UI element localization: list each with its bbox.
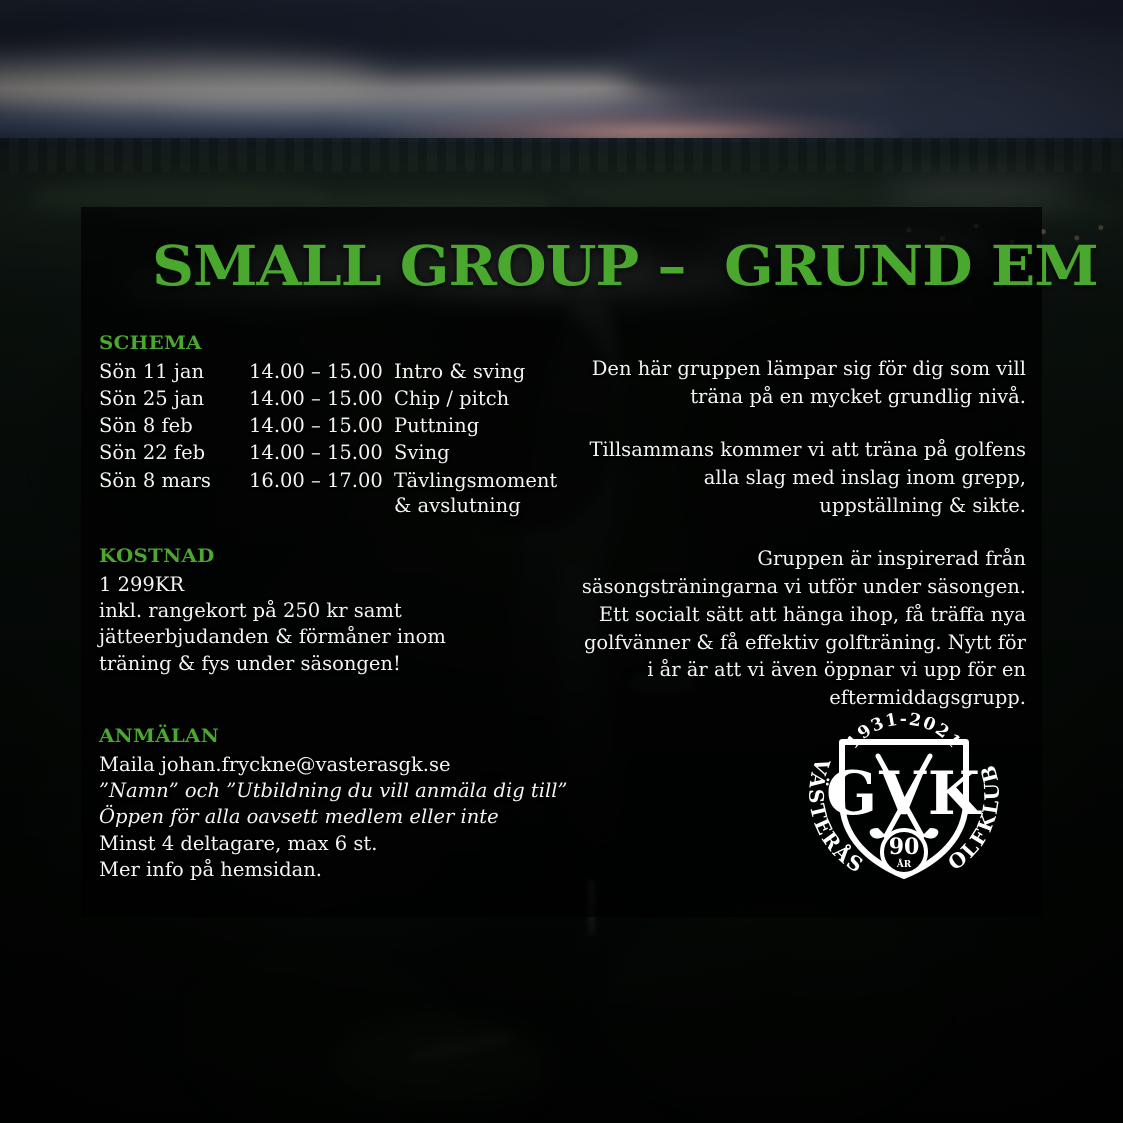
mist-patch [880, 180, 1080, 202]
registration-section: ANMÄLAN Maila johan.fryckne@vasterasgk.s… [99, 725, 569, 883]
field-patch [560, 176, 890, 206]
table-row: Sön 8 mars 16.00 – 17.00 Tävlingsmoment … [99, 468, 557, 521]
schedule-day: Sön 11 jan [99, 359, 249, 386]
description-section: Den här gruppen lämpar sig för dig som v… [581, 355, 1026, 712]
kostnad-heading: KOSTNAD [99, 545, 588, 569]
schedule-time: 16.00 – 17.00 [249, 468, 394, 521]
schedule-activity: Chip / pitch [394, 386, 557, 413]
svg-text:ÅR: ÅR [896, 858, 912, 870]
schedule-time: 14.00 – 15.00 [249, 386, 394, 413]
registration-instruction: ”Namn” och ”Utbildning du vill anmäla di… [99, 778, 569, 804]
anmalan-heading: ANMÄLAN [99, 725, 588, 749]
monogram-gvk: GVK [826, 759, 982, 829]
description-paragraph-1: Den här gruppen lämpar sig för dig som v… [581, 355, 1026, 410]
schedule-day: Sön 22 feb [99, 440, 249, 467]
schedule-section: SCHEMA Sön 11 jan 14.00 – 15.00 Intro & … [99, 332, 569, 521]
schedule-time: 14.00 – 15.00 [249, 359, 394, 386]
schedule-time: 14.00 – 15.00 [249, 440, 394, 467]
anniversary-badge: 90 ÅR [882, 830, 926, 874]
table-row: Sön 11 jan 14.00 – 15.00 Intro & sving [99, 359, 557, 386]
fairway-patch [330, 1020, 550, 1110]
schedule-day: Sön 8 mars [99, 468, 249, 521]
registration-moreinfo: Mer info på hemsidan. [99, 857, 569, 883]
content-panel: SMALL GROUP – GRUND EM SCHEMA Sön 11 jan… [81, 207, 1042, 917]
schedule-time: 14.00 – 15.00 [249, 413, 394, 440]
schedule-activity: Intro & sving [394, 359, 557, 386]
description-paragraph-3: Gruppen är inspirerad från säsongstränin… [581, 545, 1026, 711]
schedule-day: Sön 8 feb [99, 413, 249, 440]
poster-canvas: SMALL GROUP – GRUND EM SCHEMA Sön 11 jan… [0, 0, 1123, 1123]
schedule-activity: Tävlingsmoment & avslutning [394, 468, 557, 521]
schedule-activity: Puttning [394, 413, 557, 440]
club-logo: GVK 90 ÅR 1931-2021 VÄSTERÅS GOLFKLUBB [798, 704, 1010, 894]
description-paragraph-2: Tillsammans kommer vi att träna på golfe… [581, 436, 1026, 519]
table-row: Sön 22 feb 14.00 – 15.00 Sving [99, 440, 557, 467]
registration-eligibility: Öppen för alla oavsett medlem eller inte [99, 804, 569, 830]
schedule-activity: Sving [394, 440, 557, 467]
schema-heading: SCHEMA [99, 332, 588, 356]
registration-email-line[interactable]: Maila johan.fryckne@vasterasgk.se [99, 752, 569, 778]
registration-capacity: Minst 4 deltagare, max 6 st. [99, 831, 569, 857]
schedule-day: Sön 25 jan [99, 386, 249, 413]
logo-years-text: 1931-2021 [843, 710, 966, 753]
table-row: Sön 8 feb 14.00 – 15.00 Puttning [99, 413, 557, 440]
svg-text:90: 90 [889, 834, 920, 860]
cost-line: träning & fys under säsongen! [99, 651, 569, 677]
table-row: Sön 25 jan 14.00 – 15.00 Chip / pitch [99, 386, 557, 413]
cost-section: KOSTNAD 1 299KR inkl. rangekort på 250 k… [99, 545, 569, 677]
cost-price: 1 299KR [99, 572, 569, 598]
cost-line: inkl. rangekort på 250 kr samt [99, 598, 569, 624]
schedule-table-body: Sön 11 jan 14.00 – 15.00 Intro & sving S… [99, 359, 557, 521]
cost-line: jätteerbjudanden & förmåner inom [99, 624, 569, 650]
page-title: SMALL GROUP – GRUND EM [152, 238, 1098, 293]
schedule-table: Sön 11 jan 14.00 – 15.00 Intro & sving S… [99, 359, 557, 521]
svg-text:GVK: GVK [826, 759, 982, 829]
